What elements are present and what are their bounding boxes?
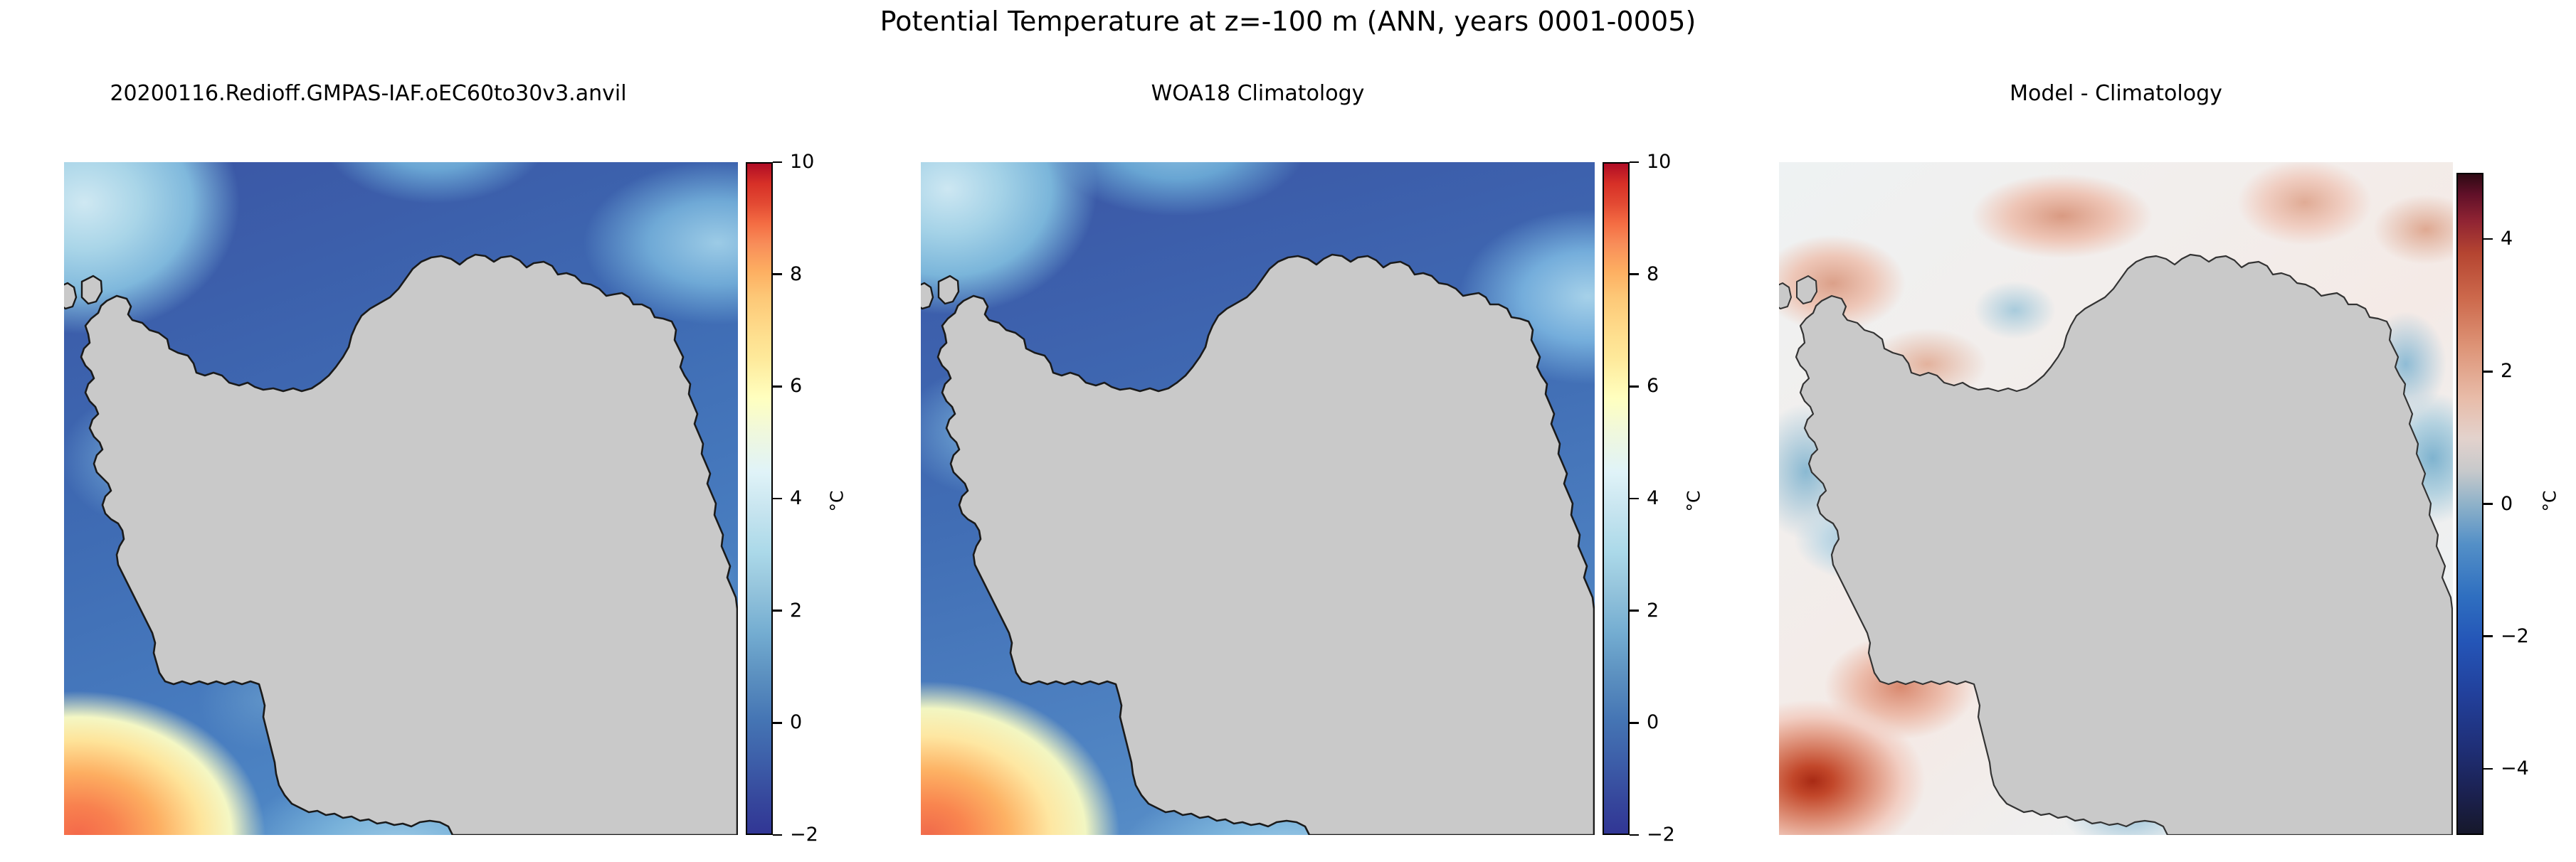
panel-title-model: 20200116.Redioff.GMPAS-IAF.oEC60to30v3.a…: [0, 81, 737, 106]
antarctica-landmass: [921, 162, 1595, 835]
tick-mark: [1630, 498, 1639, 500]
panel-title-difference: Model - Climatology: [1779, 81, 2453, 106]
map-axes-climatology[interactable]: [921, 162, 1595, 835]
tick-mark: [2483, 371, 2493, 373]
panel-title-climatology: WOA18 Climatology: [921, 81, 1595, 106]
antarctica-landmass: [1779, 162, 2453, 835]
tick-mark: [773, 161, 782, 164]
colorbar-unit-model: °C: [826, 491, 847, 512]
colorbar-unit-difference: °C: [2539, 491, 2560, 512]
figure-suptitle: Potential Temperature at z=-100 m (ANN, …: [0, 6, 2576, 37]
map-axes-difference[interactable]: [1779, 162, 2453, 835]
tick-mark: [2483, 503, 2493, 505]
tick-mark: [773, 610, 782, 612]
tick-mark: [1630, 722, 1639, 724]
tick-mark: [1630, 610, 1639, 612]
tick-mark: [1630, 273, 1639, 275]
tick-mark: [773, 834, 782, 836]
map-axes-model[interactable]: [64, 162, 738, 835]
tick-mark: [1630, 161, 1639, 164]
tick-mark: [773, 722, 782, 724]
tick-mark: [2483, 238, 2493, 240]
colorbar-unit-climatology: °C: [1683, 491, 1704, 512]
colorbar-climatology[interactable]: [1603, 162, 1630, 835]
colorbar-difference[interactable]: [2456, 173, 2483, 835]
antarctica-landmass: [64, 162, 738, 835]
figure-canvas: Potential Temperature at z=-100 m (ANN, …: [0, 0, 2576, 862]
tick-mark: [1630, 834, 1639, 836]
tick-mark: [2483, 768, 2493, 770]
colorbar-model[interactable]: [746, 162, 773, 835]
tick-mark: [1630, 385, 1639, 388]
tick-mark: [773, 498, 782, 500]
tick-mark: [2483, 635, 2493, 637]
tick-mark: [773, 385, 782, 388]
tick-mark: [773, 273, 782, 275]
